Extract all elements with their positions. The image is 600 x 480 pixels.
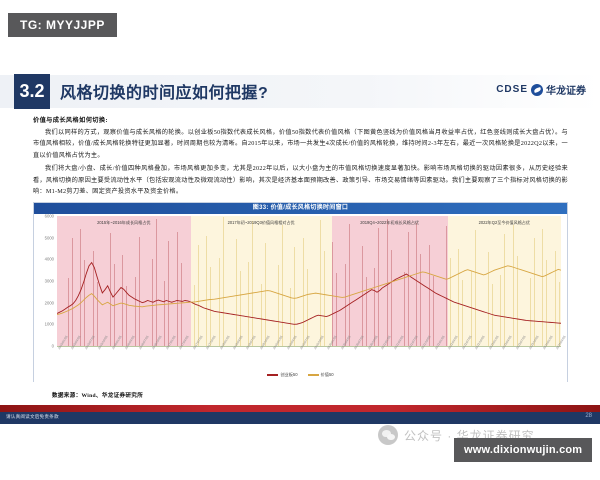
y-tick-label: 2000 bbox=[45, 300, 54, 305]
legend-item: 创业板50 bbox=[267, 372, 297, 378]
company-logo: CDSE 华龙证券 bbox=[496, 82, 586, 97]
paragraph-1: 我们以同样的方式，观察价值与成长风格的轮换。以创业板50指数代表成长风格，价值5… bbox=[33, 127, 568, 161]
legend-swatch bbox=[308, 374, 319, 375]
page-title: 风格切换的时间应如何把握? bbox=[60, 79, 268, 103]
footer-red-bar bbox=[0, 405, 600, 412]
tg-watermark-badge: TG: MYYJJPP bbox=[8, 13, 117, 37]
legend-label: 价值50 bbox=[321, 372, 334, 378]
legend-item: 价值50 bbox=[308, 372, 334, 378]
y-tick-label: 1000 bbox=[45, 322, 54, 327]
paragraph-2: 我们将大盘/小盘、成长/价值四种风格叠加，市场风格更加多变，尤其是2022年以后… bbox=[33, 163, 568, 197]
y-axis: 0100020003000400050006000 bbox=[34, 214, 56, 350]
y-tick-label: 5000 bbox=[45, 235, 54, 240]
section-number: 3.2 bbox=[14, 74, 50, 109]
footer-blue-bar bbox=[0, 412, 600, 424]
period-annotation: 2015年~2016年成长风格占优 bbox=[84, 220, 164, 226]
y-tick-label: 4000 bbox=[45, 257, 54, 262]
lead-heading: 价值与成长风格如何切换: bbox=[33, 115, 568, 124]
wechat-icon bbox=[378, 425, 398, 445]
chart-plot: 0100020003000400050006000 2015年~2016年成长风… bbox=[34, 214, 567, 383]
period-annotation: 2022年Q2至今价值风格占优 bbox=[464, 220, 544, 226]
series-line bbox=[57, 266, 561, 315]
figure-container: 图33: 价值/成长风格切换时间窗口 010002000300040005000… bbox=[33, 202, 568, 382]
slide-page: 3.2 风格切换的时间应如何把握? CDSE 华龙证券 价值与成长风格如何切换:… bbox=[0, 57, 600, 421]
legend-swatch bbox=[267, 374, 278, 375]
period-annotation: 2017年初~2019Q3价值风格相对占优 bbox=[221, 220, 301, 226]
y-tick-label: 6000 bbox=[45, 214, 54, 219]
plot-area: 2015年~2016年成长风格占优2017年初~2019Q3价值风格相对占优20… bbox=[57, 216, 561, 346]
page-number: 28 bbox=[585, 413, 592, 419]
series-lines bbox=[57, 216, 561, 346]
x-axis-line bbox=[57, 346, 561, 347]
x-axis-labels: 2015/01/052015/04/052015/07/052015/10/05… bbox=[57, 348, 561, 372]
series-line bbox=[57, 263, 561, 325]
logo-text-en: CDSE bbox=[496, 84, 528, 95]
chart-legend: 创业板50价值50 bbox=[34, 370, 567, 380]
logo-swoosh-icon bbox=[531, 84, 543, 96]
footer-disclaimer: 请认真阅读文后免责条款 bbox=[6, 414, 59, 420]
y-tick-label: 3000 bbox=[45, 279, 54, 284]
logo-text-cn: 华龙证券 bbox=[546, 82, 586, 97]
period-annotation: 2019Q4~2022年初成长风格占优 bbox=[350, 220, 430, 226]
url-watermark-badge: www.dixionwujin.com bbox=[454, 438, 592, 462]
body-text: 价值与成长风格如何切换: 我们以同样的方式，观察价值与成长风格的轮换。以创业板5… bbox=[33, 115, 568, 200]
y-tick-label: 0 bbox=[52, 344, 54, 349]
legend-label: 创业板50 bbox=[280, 372, 297, 378]
figure-source: 数据来源：Wind、华龙证券研究所 bbox=[52, 391, 143, 399]
figure-title: 图33: 价值/成长风格切换时间窗口 bbox=[34, 203, 567, 214]
